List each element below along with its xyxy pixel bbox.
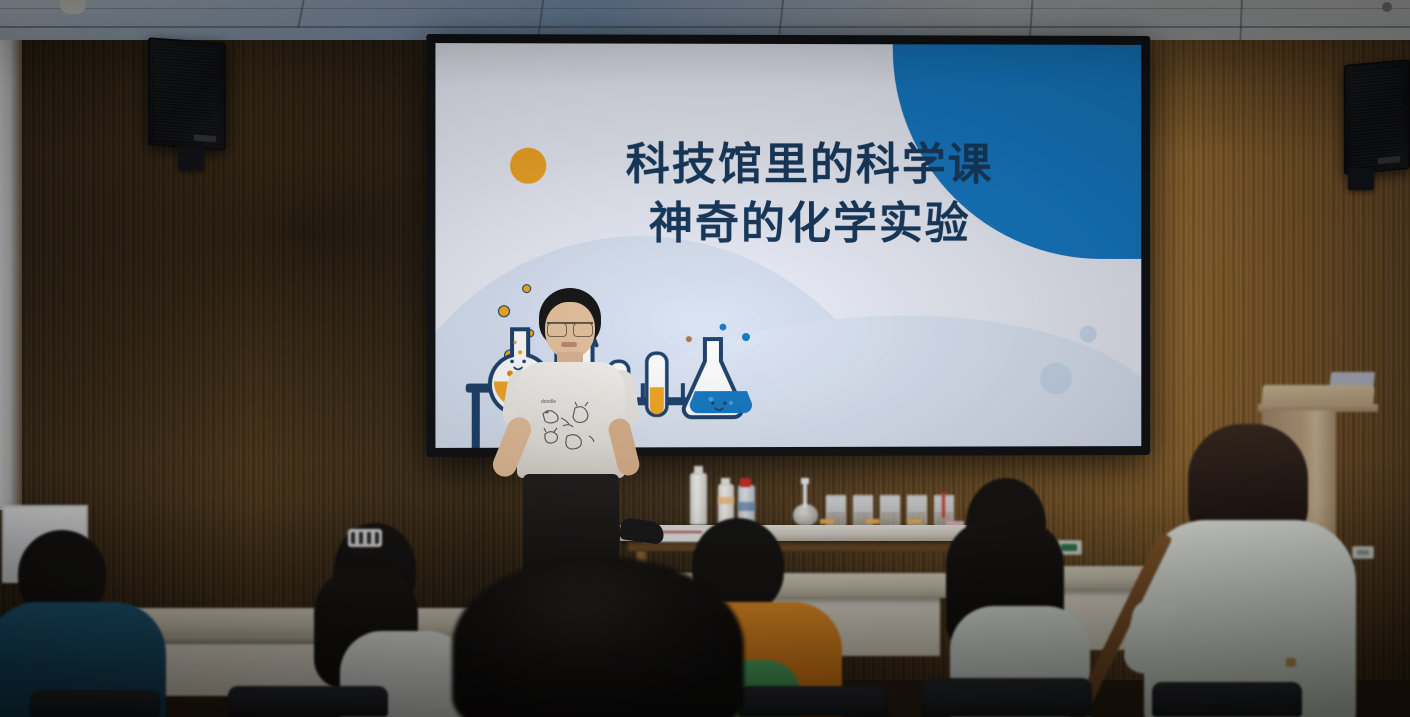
student-chair xyxy=(1152,682,1302,717)
student-foreground xyxy=(452,556,744,717)
student-chair xyxy=(738,686,888,717)
speaker-grille xyxy=(1351,67,1403,168)
ceiling-smoke-detector xyxy=(60,0,86,14)
slide-title-line1: 科技馆里的科学课 xyxy=(626,140,994,189)
bottle-cap xyxy=(721,478,730,486)
bench-label-tag xyxy=(866,519,880,524)
student-chair xyxy=(228,686,388,717)
slide-pale-dot xyxy=(1040,363,1072,395)
wall-speaker-right xyxy=(1344,59,1410,175)
outlet-slots xyxy=(1357,550,1369,555)
slide-pale-dot xyxy=(1080,326,1097,343)
speaker-grille xyxy=(155,45,219,143)
ceiling-grid-line xyxy=(0,26,1410,28)
tshirt-doodle-graphic: doodle xyxy=(539,396,603,458)
beaker-graduations xyxy=(854,496,872,513)
bottle-cap-red xyxy=(740,478,751,487)
wall-speaker-left xyxy=(148,37,226,150)
slide-title: 科技馆里的科学课 神奇的化学实验 xyxy=(435,135,1141,253)
bottle-label xyxy=(738,502,755,511)
strap-buckle xyxy=(1286,658,1296,667)
slide-title-line2: 神奇的化学实验 xyxy=(476,194,1142,253)
flask-stopper xyxy=(801,478,809,484)
glasses-icon xyxy=(547,322,593,333)
adult-white-dress xyxy=(1126,424,1356,717)
svg-text:doodle: doodle xyxy=(541,399,556,405)
classroom-photo-scene: 科技馆里的科学课 神奇的化学实验 xyxy=(0,0,1410,717)
beaker-graduations xyxy=(881,496,899,513)
beaker-graduations xyxy=(827,496,845,513)
ceiling-fixture xyxy=(1382,2,1392,12)
wall-left-edge xyxy=(0,40,22,510)
bench-label-tag xyxy=(908,519,922,524)
beaker-3 xyxy=(880,495,900,526)
science-teacher: doodle xyxy=(495,288,645,578)
student-chair xyxy=(922,678,1092,717)
ceiling-grid-line xyxy=(0,8,1410,9)
speaker-mount-right xyxy=(1348,168,1374,190)
student-teal-shirt xyxy=(0,530,170,717)
foreground-head xyxy=(452,556,744,717)
teacher-mouth xyxy=(561,342,577,347)
speaker-mount-left xyxy=(178,146,204,170)
beaker-graduations xyxy=(908,496,926,513)
bottle-label xyxy=(718,497,734,504)
hair-clip-pattern xyxy=(351,532,379,544)
student-chair xyxy=(30,690,160,717)
bottle-cap xyxy=(694,466,703,475)
